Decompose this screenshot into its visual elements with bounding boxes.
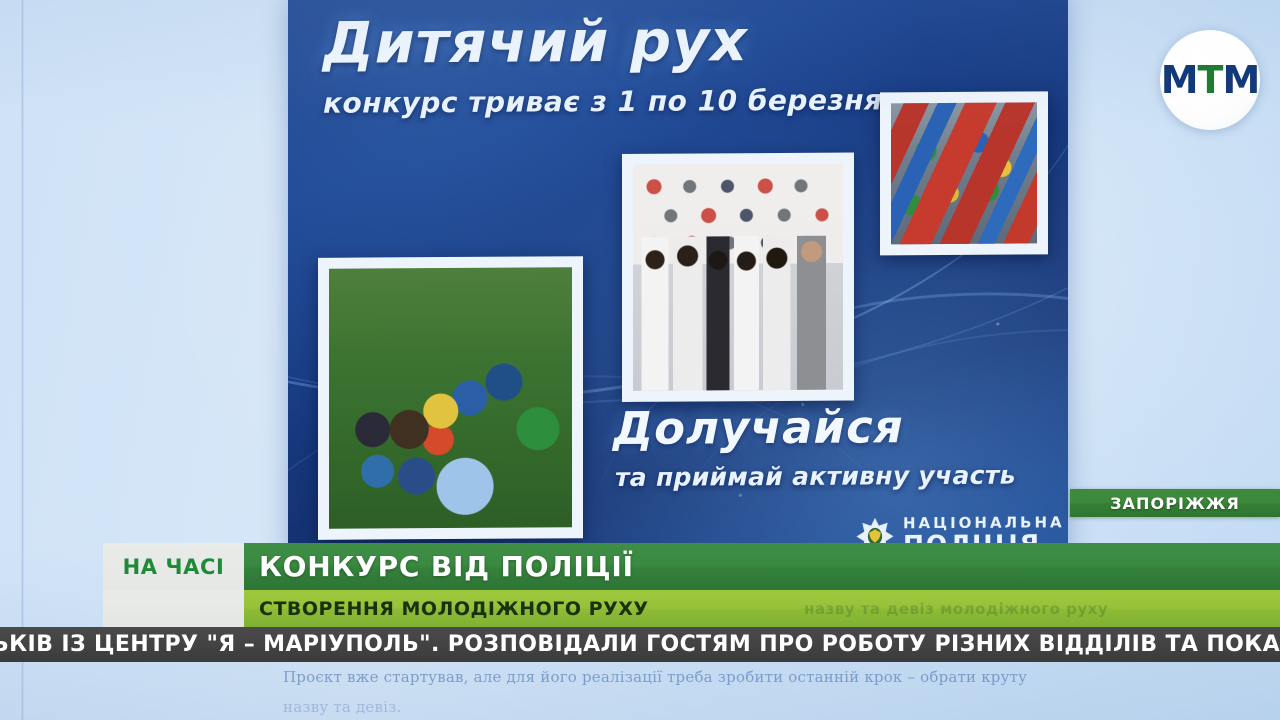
slide-body-line1: Проєкт вже стартував, але для його реалі… <box>283 662 1083 692</box>
mtm-logo: MTM <box>1161 61 1260 99</box>
location-badge-label: ЗАПОРІЖЖЯ <box>1110 494 1240 513</box>
lower-third-kicker-filler <box>103 590 244 627</box>
news-ticker-text: ЬКІВ ІЗ ЦЕНТРУ "Я – МАРІУПОЛЬ". РОЗПОВІД… <box>0 632 1280 657</box>
police-emblem-line1: НАЦІОНАЛЬНА <box>903 515 1065 531</box>
lower-third-kicker-label: НА ЧАСІ <box>123 555 225 579</box>
photo-martial-arts-team-image <box>633 164 843 391</box>
photo-kayaks-image <box>891 102 1037 244</box>
slide-title: Дитячий рух <box>323 12 963 73</box>
photo-martial-arts-team <box>622 153 854 402</box>
slide-body-line2: назву та девіз. <box>283 692 1083 720</box>
lower-third-title: КОНКУРС ВІД ПОЛІЦІЇ <box>259 550 634 583</box>
team-member-heads <box>633 231 843 277</box>
lower-third-subtitle: СТВОРЕННЯ МОЛОДІЖНОГО РУХУ <box>259 598 649 620</box>
broadcast-frame: Дитячий рух конкурс триває з 1 по 10 бер… <box>0 0 1280 720</box>
lower-third-ghost-text: назву та девіз молодіжного руху <box>804 600 1108 618</box>
logo-letter-m-left: M <box>1161 58 1198 102</box>
news-ticker: ЬКІВ ІЗ ЦЕНТРУ "Я – МАРІУПОЛЬ". РОЗПОВІД… <box>0 627 1280 662</box>
slide-cta-subline: та приймай активну участь <box>615 460 1068 492</box>
location-badge: ЗАПОРІЖЖЯ <box>1070 489 1280 517</box>
photo-children-on-grass <box>318 256 583 540</box>
channel-logo: MTM <box>1160 30 1260 130</box>
photo-kayaks <box>880 91 1048 255</box>
photo-children-on-grass-image <box>329 267 572 528</box>
logo-letter-t: T <box>1198 58 1223 102</box>
slide-body-text: Проєкт вже стартував, але для його реалі… <box>283 662 1083 720</box>
lower-third-kicker: НА ЧАСІ <box>103 543 244 590</box>
lower-third-title-bar: КОНКУРС ВІД ПОЛІЦІЇ <box>244 543 1280 590</box>
logo-letter-m-right: M <box>1222 58 1259 102</box>
projected-slide: Дитячий рух конкурс триває з 1 по 10 бер… <box>288 0 1068 566</box>
lower-third: НА ЧАСІ КОНКУРС ВІД ПОЛІЦІЇ СТВОРЕННЯ МО… <box>0 543 1280 627</box>
slide-cta-headline: Долучайся <box>613 403 1053 451</box>
lower-third-subtitle-bar: СТВОРЕННЯ МОЛОДІЖНОГО РУХУ назву та деві… <box>244 590 1280 627</box>
